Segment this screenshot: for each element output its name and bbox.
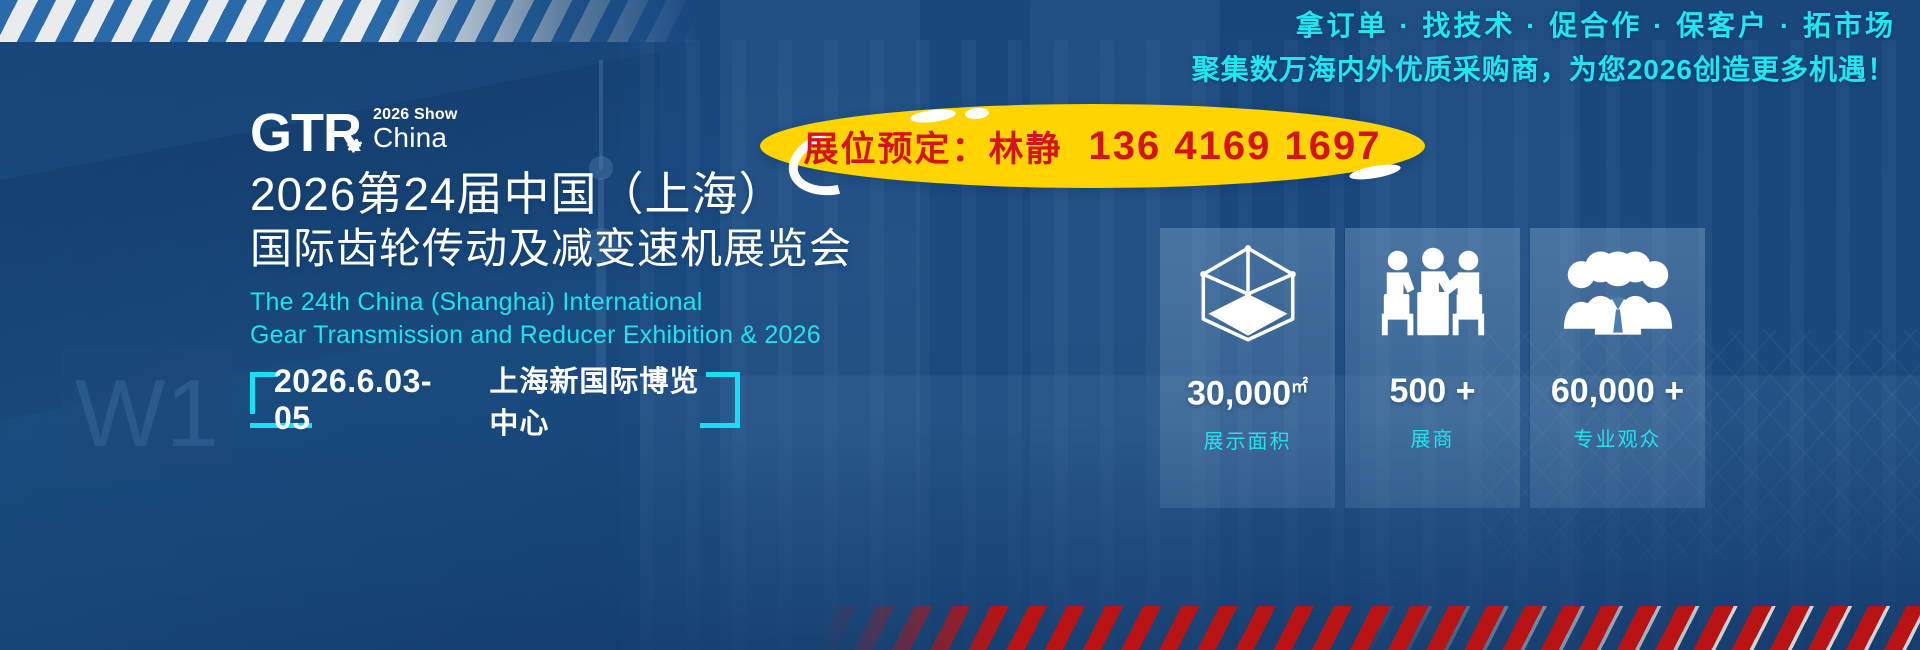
headline-en-line1: The 24th China (Shanghai) International [250, 286, 890, 319]
booth-booking-callout[interactable]: 展位预定：林静 136 4169 1697 [760, 104, 1425, 188]
stat-panel-visitors: 60,000 + 专业观众 [1530, 228, 1705, 508]
stats-panels: 30,000㎡ 展示面积 [1160, 228, 1705, 508]
cube-icon [1196, 234, 1300, 354]
logo-tag-year: 2026 Show [373, 106, 458, 123]
event-venue: 上海新国际博览中心 [489, 358, 716, 442]
booth-meeting-icon [1374, 234, 1492, 354]
event-date: 2026.6.03-05 [274, 363, 437, 437]
booth-booking-label: 展位预定：林静 [804, 121, 1063, 172]
stat-caption-area: 展示面积 [1204, 425, 1292, 454]
logo-subtitle: 2026 Show China [373, 106, 458, 152]
box-corner-top-right-v [735, 372, 740, 428]
bottom-right-red-stripe-ribbon [800, 606, 1920, 650]
stat-value-exhibitors: 500 + [1389, 372, 1475, 411]
stat-value-area: 30,000㎡ [1187, 372, 1308, 413]
exhibition-banner: W1 GTR 2026 Show China 2026第24届中国（上海） [0, 0, 1920, 650]
visitors-icon [1560, 234, 1676, 354]
top-left-stripe-ribbon [0, 0, 700, 42]
headline-en-line2: Gear Transmission and Reducer Exhibition… [250, 319, 890, 352]
slogan-line-1: 拿订单 · 找技术 · 促合作 · 保客户 · 拓市场 [1295, 4, 1896, 44]
stat-caption-visitors: 专业观众 [1574, 423, 1662, 452]
logo-tag-country: China [373, 123, 458, 152]
box-corner-top-left-v [250, 372, 255, 414]
stat-panel-area: 30,000㎡ 展示面积 [1160, 228, 1335, 508]
logo-mark-text: GTR [250, 103, 361, 163]
stat-value-visitors: 60,000 + [1551, 372, 1684, 411]
gear-icon [346, 137, 363, 154]
slogan-line-2: 聚集数万海内外优质采购商，为您2026创造更多机遇！ [1192, 48, 1896, 88]
stat-panel-exhibitors: 500 + 展商 [1345, 228, 1520, 508]
headline-cn-line2: 国际齿轮传动及减变速机展览会 [250, 222, 890, 276]
date-venue-box: 2026.6.03-05 上海新国际博览中心 [250, 372, 740, 428]
stat-caption-exhibitors: 展商 [1411, 423, 1455, 452]
booth-booking-phone[interactable]: 136 4169 1697 [1089, 124, 1382, 169]
logo-mark: GTR [250, 106, 361, 160]
